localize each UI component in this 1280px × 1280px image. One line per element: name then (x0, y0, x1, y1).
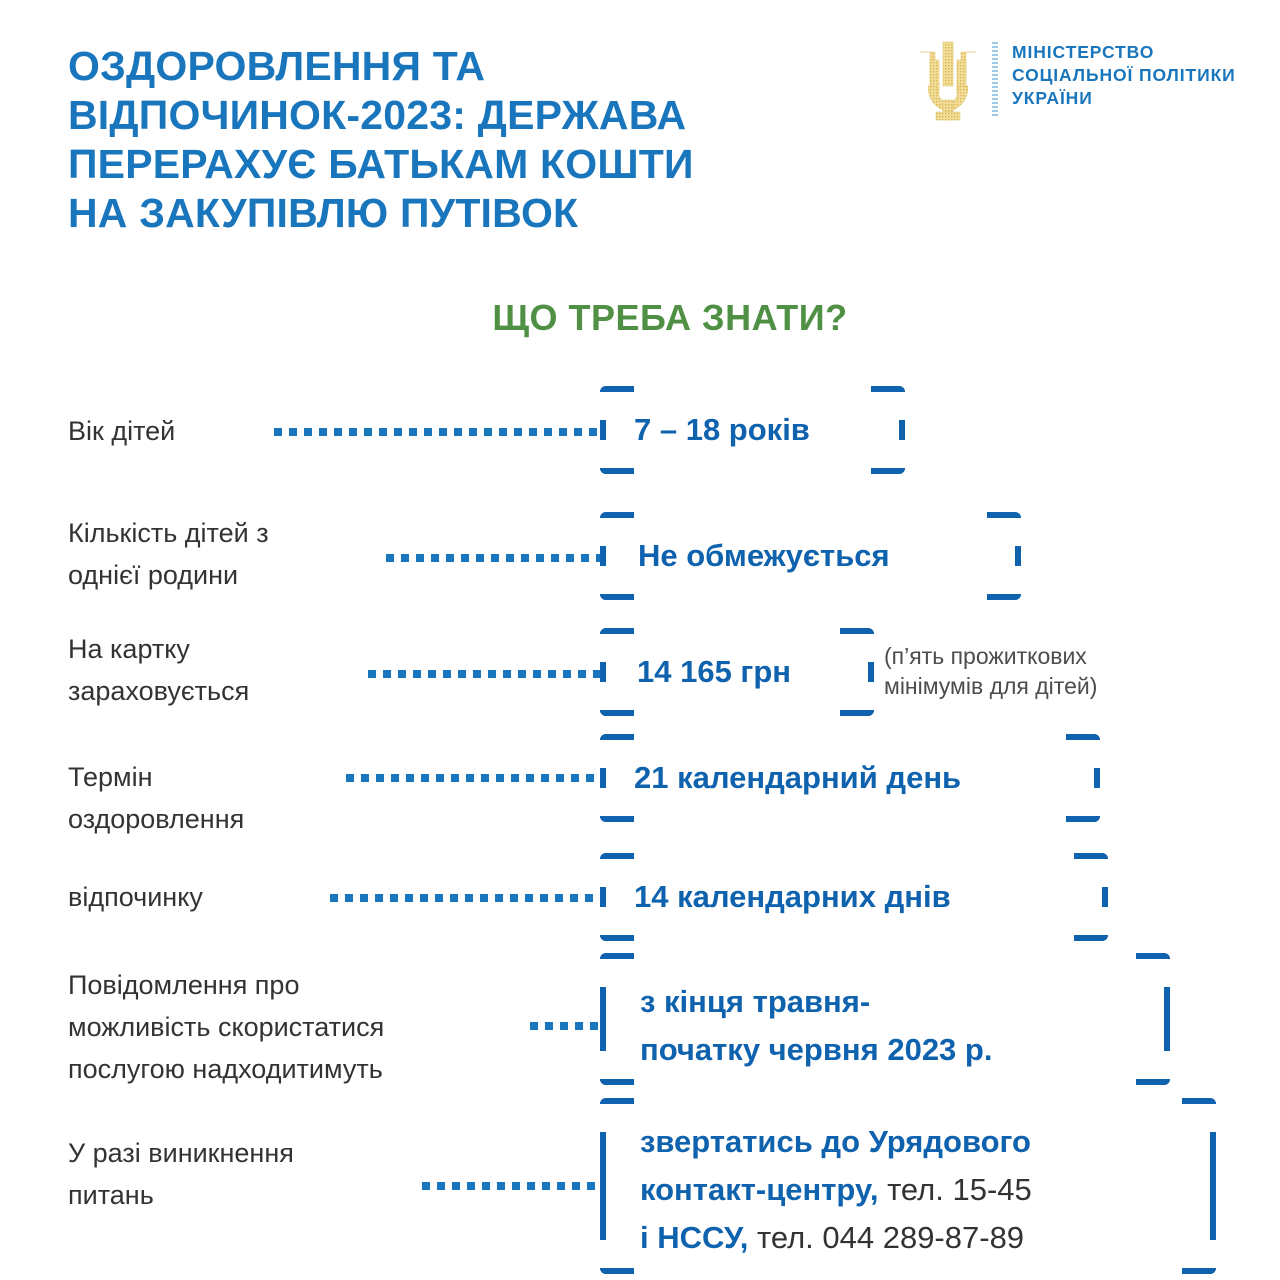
leader-dots (274, 428, 604, 436)
leader-dots (330, 894, 606, 902)
fact-value: Не обмежується (638, 535, 890, 577)
fact-label: На картку зараховується (68, 628, 249, 712)
fact-row: Вік дітей 7 – 18 років (0, 378, 1280, 482)
leader-dots (386, 554, 606, 562)
fact-row: Кількість дітей з однієї родини Не обмеж… (0, 494, 1280, 606)
fact-row: Повідомлення про можливість скористатися… (0, 956, 1280, 1096)
leader-dots (346, 774, 606, 782)
fact-label: Термін оздоровлення (68, 756, 244, 840)
fact-row: На картку зараховується 14 165 грн (п’ят… (0, 616, 1280, 728)
leader-dots (368, 670, 606, 678)
fact-row: У разі виникнення питань звертатись до У… (0, 1104, 1280, 1274)
fact-value: 7 – 18 років (634, 409, 810, 451)
fact-label: Кількість дітей з однієї родини (68, 512, 269, 596)
fact-value: 14 календарних днів (634, 876, 951, 918)
ministry-logo: МІНІСТЕРСТВО СОЦІАЛЬНОЇ ПОЛІТИКИ УКРАЇНИ (912, 38, 1236, 124)
fact-note: (п’ять прожиткових мінімумів для дітей) (884, 641, 1097, 701)
fact-value: 14 165 грн (637, 651, 791, 693)
fact-row: відпочинку 14 календарних днів (0, 848, 1280, 954)
fact-value: з кінця травня- початку червня 2023 р. (640, 978, 992, 1074)
ukrainian-trident-emblem-icon (912, 38, 984, 124)
fact-row: Термін оздоровлення 21 календарний день (0, 736, 1280, 848)
logo-divider (992, 42, 998, 116)
fact-label: Повідомлення про можливість скористатися… (68, 964, 384, 1090)
page-title: ОЗДОРОВЛЕННЯ ТА ВІДПОЧИНОК-2023: ДЕРЖАВА… (68, 42, 858, 238)
fact-value: 21 календарний день (634, 757, 961, 799)
leader-dots (530, 1022, 606, 1030)
section-subtitle: ЩО ТРЕБА ЗНАТИ? (0, 297, 1280, 339)
ministry-name: МІНІСТЕРСТВО СОЦІАЛЬНОЇ ПОЛІТИКИ УКРАЇНИ (1012, 41, 1236, 110)
fact-value-rich: звертатись до Урядовогоконтакт-центру, т… (640, 1118, 1032, 1262)
fact-label: Вік дітей (68, 410, 175, 452)
fact-label: відпочинку (68, 876, 203, 918)
fact-label: У разі виникнення питань (68, 1132, 294, 1216)
page-header: ОЗДОРОВЛЕННЯ ТА ВІДПОЧИНОК-2023: ДЕРЖАВА… (0, 0, 1280, 280)
leader-dots (422, 1182, 606, 1190)
